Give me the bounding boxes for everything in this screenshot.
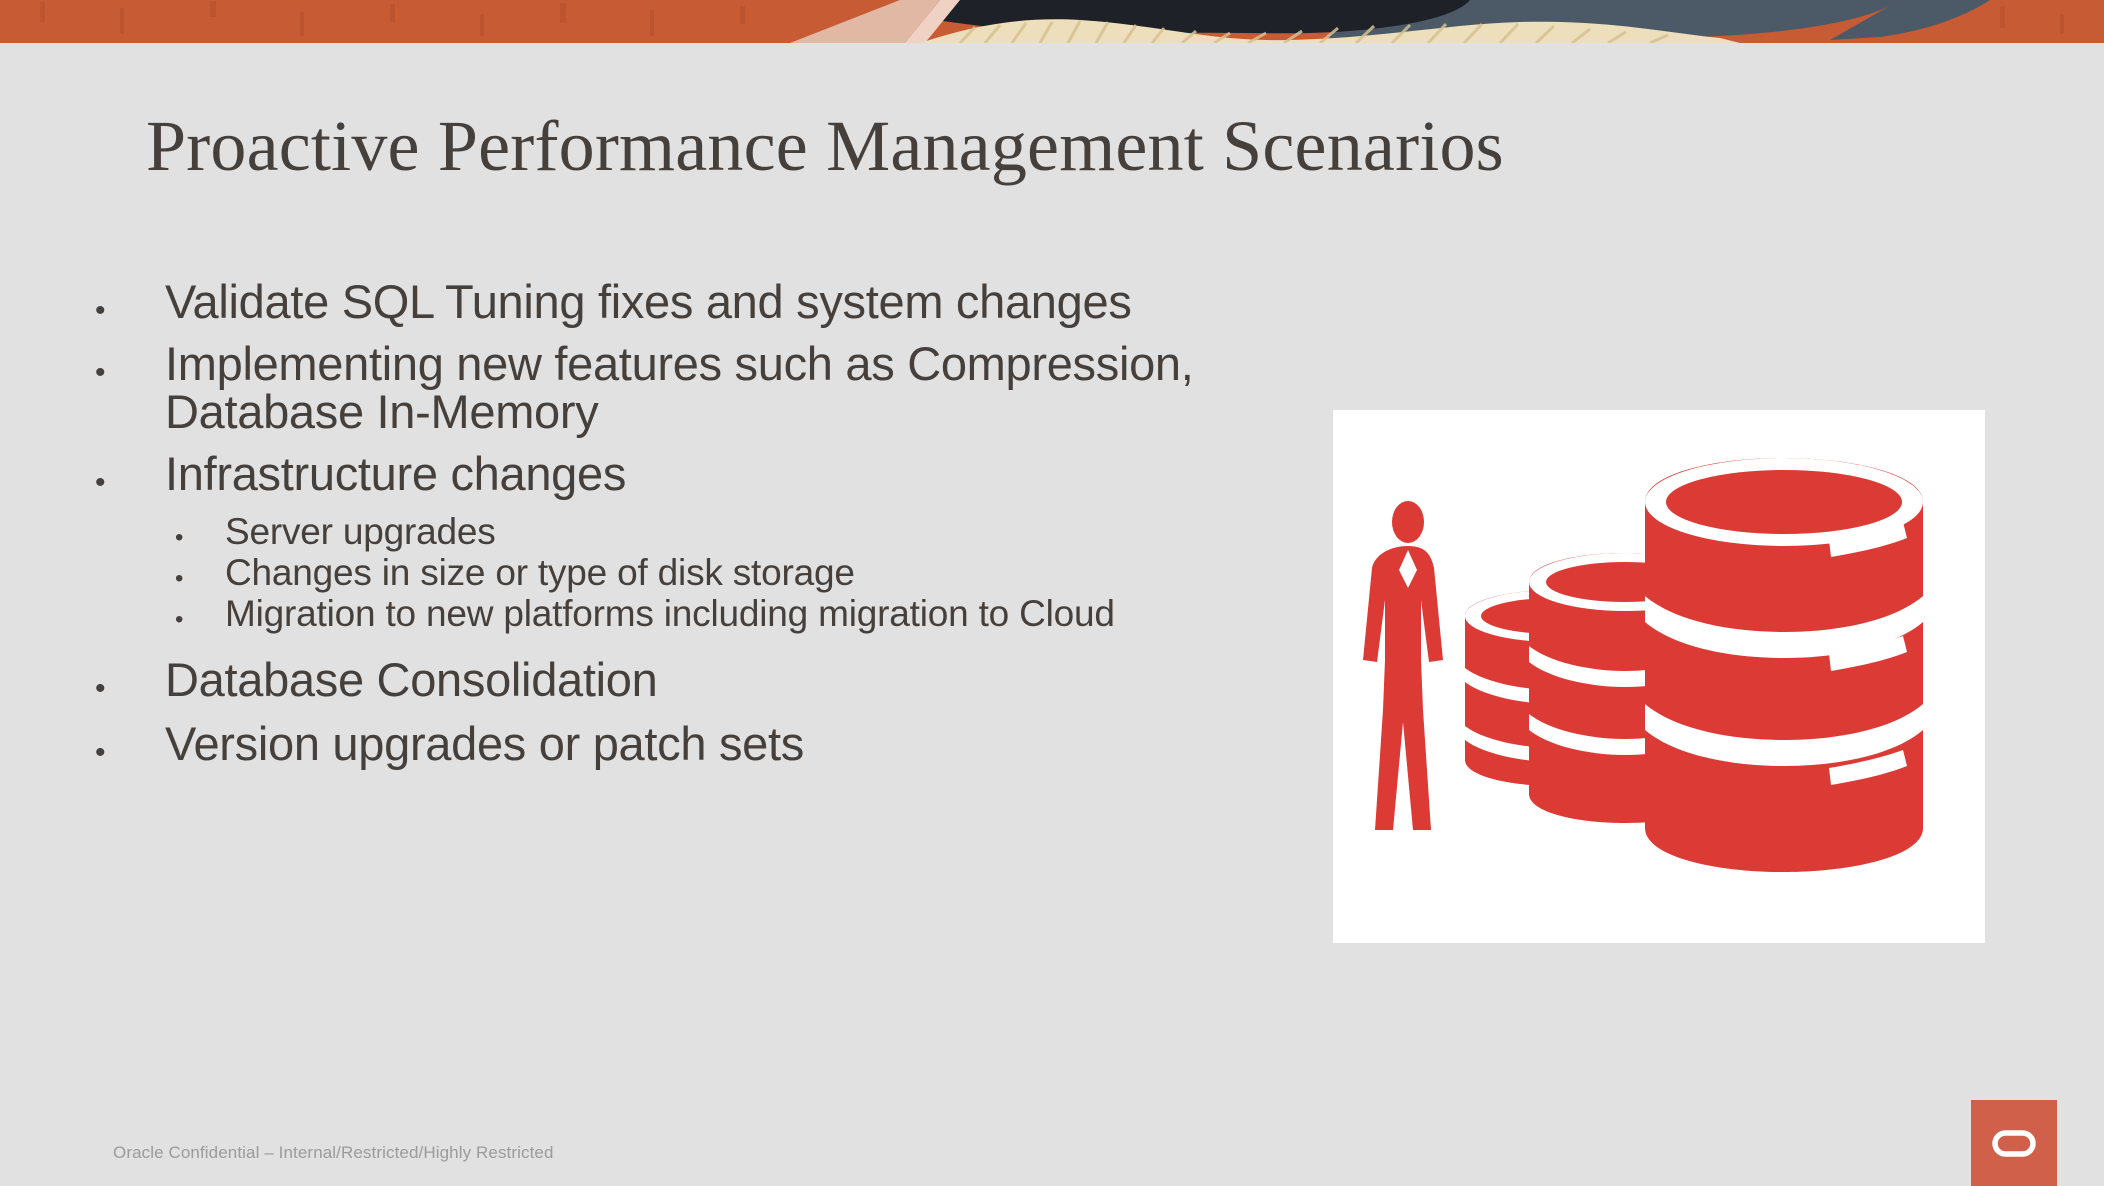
bullet-marker-icon: • (175, 594, 225, 632)
list-item: • Database Consolidation (95, 656, 1285, 704)
confidentiality-notice: Oracle Confidential – Internal/Restricte… (113, 1143, 554, 1163)
list-item-text: Version upgrades or patch sets (165, 720, 804, 768)
list-item: • Version upgrades or patch sets (95, 720, 1285, 768)
list-item: • Implementing new features such as Comp… (95, 340, 1285, 436)
slide-title: Proactive Performance Management Scenari… (146, 110, 1976, 182)
bullet-marker-icon: • (95, 720, 165, 768)
database-image-frame (1333, 410, 1985, 943)
bullet-list: • Validate SQL Tuning fixes and system c… (95, 278, 1285, 782)
list-item: • Migration to new platforms including m… (95, 594, 1285, 633)
bullet-marker-icon: • (175, 512, 225, 550)
list-item-text: Validate SQL Tuning fixes and system cha… (165, 278, 1132, 326)
bullet-marker-icon: • (95, 278, 165, 326)
oracle-logo (1971, 1100, 2057, 1186)
bullet-marker-icon: • (175, 553, 225, 591)
list-item-text: Database Consolidation (165, 656, 657, 704)
list-item: • Changes in size or type of disk storag… (95, 553, 1285, 592)
oracle-logo-mark-icon (1971, 1100, 2057, 1186)
bullet-marker-icon: • (95, 340, 165, 388)
list-item-text: Implementing new features such as Compre… (165, 340, 1285, 436)
database-consolidation-illustration (1333, 410, 1985, 943)
list-item-text: Changes in size or type of disk storage (225, 553, 855, 592)
decorative-banner (0, 0, 2104, 43)
list-item: • Infrastructure changes (95, 450, 1285, 498)
list-item-text: Migration to new platforms including mig… (225, 594, 1115, 633)
list-item-text: Infrastructure changes (165, 450, 626, 498)
bullet-marker-icon: • (95, 656, 165, 704)
list-item-text: Server upgrades (225, 512, 496, 551)
list-item: • Server upgrades (95, 512, 1285, 551)
list-item: • Validate SQL Tuning fixes and system c… (95, 278, 1285, 326)
slide: Proactive Performance Management Scenari… (0, 0, 2104, 1186)
banner-artwork (0, 0, 2104, 43)
bullet-marker-icon: • (95, 450, 165, 498)
